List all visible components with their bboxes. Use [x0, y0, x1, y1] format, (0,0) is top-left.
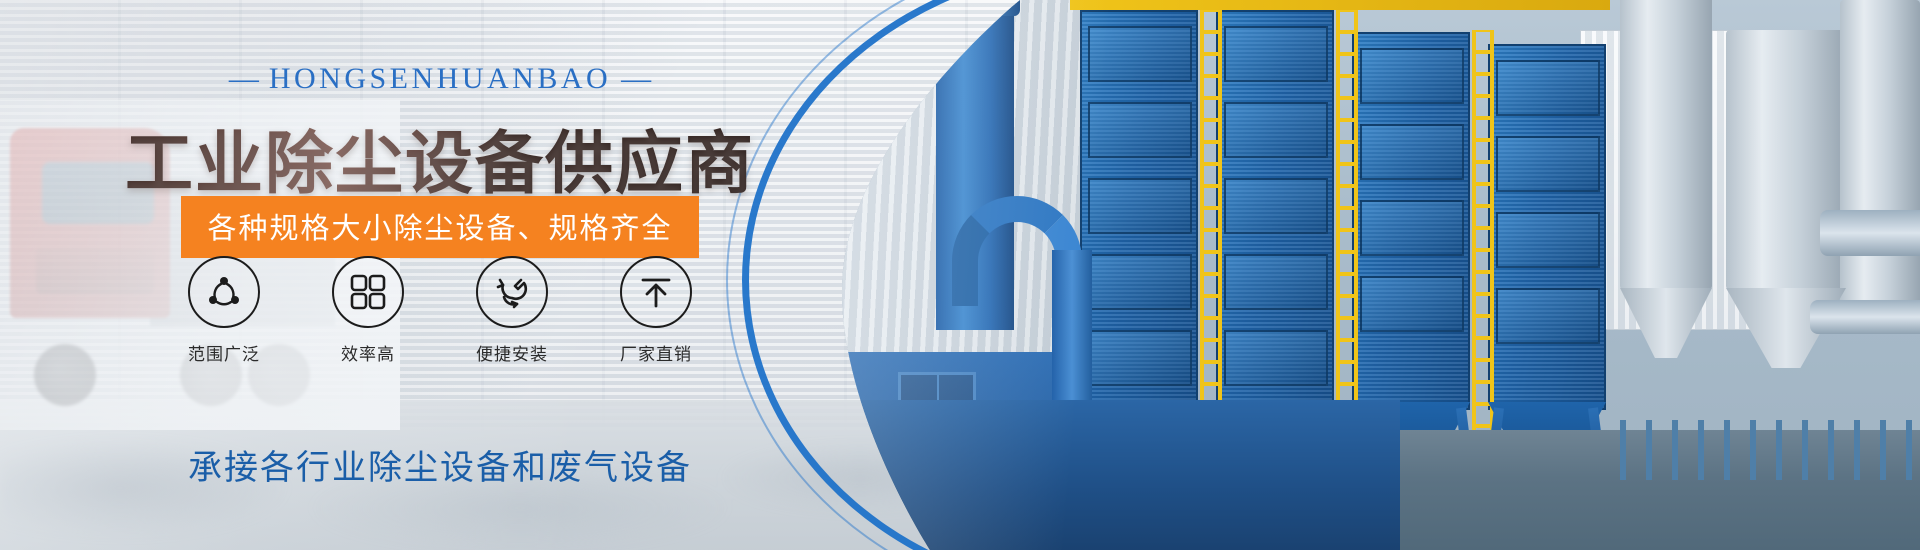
feature-item[interactable]: 范围广泛	[183, 256, 265, 365]
baghouse-panel	[1088, 26, 1192, 82]
feature-label: 范围广泛	[183, 340, 265, 365]
baghouse-module	[1488, 44, 1606, 410]
feature-label: 便捷安装	[471, 340, 553, 365]
feature-label: 效率高	[327, 340, 409, 365]
baghouse-panel	[1496, 60, 1600, 116]
baghouse-panel	[1088, 254, 1192, 310]
yellow-top-rail	[1070, 0, 1610, 10]
banner-content: —HONGSENHUANBAO— 工业除尘设备供应商 各种规格大小除尘设备、规格…	[0, 0, 880, 550]
banner-eyebrow: —HONGSENHUANBAO—	[0, 62, 880, 96]
feature-item[interactable]: 效率高	[327, 256, 409, 365]
horizontal-pipe	[1810, 300, 1920, 334]
baghouse-panel	[1224, 178, 1328, 234]
baghouse-panel	[1360, 124, 1464, 180]
baghouse-panel	[1224, 26, 1328, 82]
promo-banner: —HONGSENHUANBAO— 工业除尘设备供应商 各种规格大小除尘设备、规格…	[0, 0, 1920, 550]
baghouse-panel	[1088, 330, 1192, 386]
baghouse-panel	[1360, 276, 1464, 332]
fence	[1620, 420, 1920, 480]
horizontal-pipe	[1820, 210, 1920, 256]
baghouse-panel	[1224, 330, 1328, 386]
grid-squares-icon	[332, 256, 404, 328]
yellow-ladder	[1336, 10, 1358, 430]
baghouse-panel	[1088, 178, 1192, 234]
share-network-icon	[188, 256, 260, 328]
baghouse-panel	[1360, 48, 1464, 104]
baghouse-module	[1216, 10, 1334, 410]
yellow-ladder	[1472, 30, 1494, 450]
baghouse-panel	[1088, 102, 1192, 158]
eyebrow-dash-right: —	[611, 62, 661, 95]
eyebrow-dash-left: —	[219, 62, 269, 95]
steel-silo	[1840, 0, 1920, 330]
baghouse-panel	[1496, 288, 1600, 344]
baghouse-panel	[1496, 136, 1600, 192]
feature-list: 范围广泛 效率高	[0, 256, 880, 365]
wrench-refresh-icon	[476, 256, 548, 328]
highlight-bar-wrap: 各种规格大小除尘设备、规格齐全	[0, 196, 880, 258]
baghouse-panel	[1496, 212, 1600, 268]
baghouse-dust-collector	[1080, 10, 1600, 440]
banner-title: 工业除尘设备供应商	[0, 108, 880, 207]
feature-item[interactable]: 厂家直销	[615, 256, 697, 365]
baghouse-panel	[1224, 102, 1328, 158]
feature-label: 厂家直销	[615, 340, 697, 365]
baghouse-panel	[1360, 200, 1464, 256]
banner-tagline: 承接各行业除尘设备和废气设备	[0, 440, 880, 489]
baghouse-module	[1352, 32, 1470, 410]
eyebrow-text: HONGSENHUANBAO	[269, 62, 611, 95]
feature-item[interactable]: 便捷安装	[471, 256, 553, 365]
steel-silo	[1620, 0, 1712, 290]
yellow-ladder	[1200, 10, 1222, 430]
upload-arrow-icon	[620, 256, 692, 328]
highlight-bar: 各种规格大小除尘设备、规格齐全	[181, 196, 698, 258]
industrial-plant-photo	[780, 0, 1920, 550]
baghouse-panel	[1224, 254, 1328, 310]
